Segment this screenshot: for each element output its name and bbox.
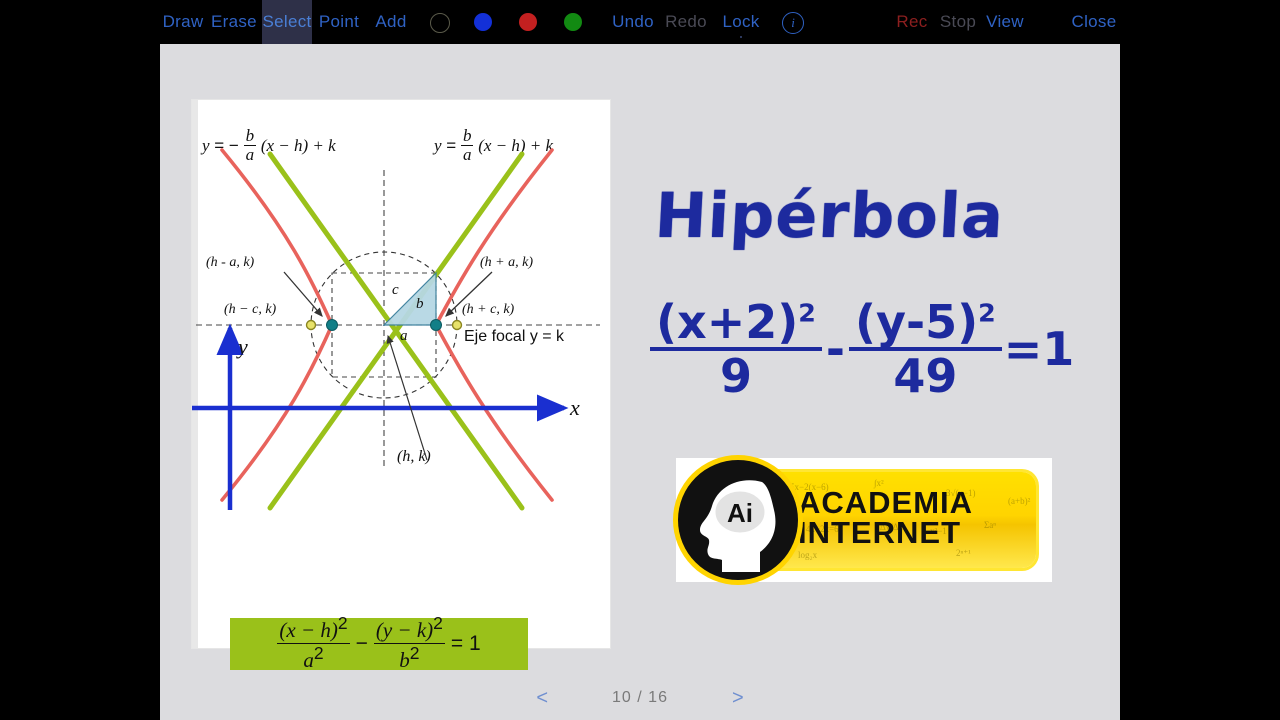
academia-internet-logo: 5x−2(x−6) ∫x² 3√(x−1) 4x+2x=6 Δy/Δx x²−1… <box>676 458 1052 582</box>
handwritten-equation: (x+2)2 9 - (y-5)2 49 =1 <box>650 299 1074 399</box>
head-profile-icon: Ai <box>678 460 798 580</box>
hw-term-1-denominator: 9 <box>650 351 822 399</box>
toolbar: Draw Erase Select Point Add Undo Redo Lo… <box>0 0 1280 44</box>
label-vertex-right: (h + a, k) <box>480 255 533 271</box>
info-icon[interactable]: i <box>782 12 804 34</box>
logo-wordmark: ACADEMIA INTERNET <box>798 488 973 548</box>
axis-label-x: x <box>570 395 580 421</box>
hyperbola-svg <box>192 140 610 610</box>
tool-select[interactable]: Select <box>262 0 312 44</box>
logo-line-2: INTERNET <box>798 518 973 548</box>
prev-page-button[interactable]: < <box>536 687 548 710</box>
label-side-b: b <box>416 296 424 313</box>
axis-label-y: y <box>238 334 248 360</box>
close-button[interactable]: Close <box>1068 0 1120 44</box>
hw-term-2-numerator: (y-5)2 <box>849 299 1002 351</box>
record-button[interactable]: Rec <box>890 0 934 44</box>
logo-badge-text: Ai <box>727 498 753 528</box>
tool-undo[interactable]: Undo <box>610 0 656 44</box>
label-focal-axis: Eje focal y = k <box>464 328 564 346</box>
logo-head-badge: Ai <box>678 460 798 580</box>
hw-term-1: (x+2)2 9 <box>650 299 822 399</box>
label-side-a: a <box>400 328 408 345</box>
label-side-c: c <box>392 282 399 299</box>
color-swatch-green-icon[interactable] <box>564 13 582 31</box>
color-swatch-blue-icon[interactable] <box>474 13 492 31</box>
formula-equals: = 1 <box>451 632 481 656</box>
hw-result: =1 <box>1004 322 1075 376</box>
lock-indicator-dot-icon <box>740 36 742 38</box>
tool-redo[interactable]: Redo <box>663 0 709 44</box>
tool-add[interactable]: Add <box>368 0 414 44</box>
color-swatch-none-icon[interactable] <box>430 13 450 33</box>
label-focus-left: (h − c, k) <box>224 302 276 318</box>
label-center: (h, k) <box>397 448 431 466</box>
formula-minus: − <box>356 632 368 656</box>
standard-equation-box: (x − h)2 a2 − (y − k)2 b2 = 1 <box>230 618 528 670</box>
handwritten-title: Hipérbola <box>653 179 1006 252</box>
stop-button[interactable]: Stop <box>936 0 980 44</box>
hw-term-1-numerator: (x+2)2 <box>650 299 822 351</box>
label-vertex-left: (h - a, k) <box>206 255 254 271</box>
page-indicator: 10 / 16 <box>612 689 668 707</box>
next-page-button[interactable]: > <box>732 687 744 710</box>
logo-line-1: ACADEMIA <box>798 488 973 518</box>
tool-point[interactable]: Point <box>316 0 362 44</box>
hw-term-2-denominator: 49 <box>849 351 1002 399</box>
hw-operator: - <box>826 322 845 376</box>
label-focus-right: (h + c, k) <box>462 302 514 318</box>
standard-equation: (x − h)2 a2 − (y − k)2 b2 = 1 <box>277 615 480 672</box>
hyperbola-diagram: y = − b a (x − h) + k y = b a (x − h) + … <box>192 100 610 648</box>
tool-draw[interactable]: Draw <box>160 0 206 44</box>
slide-canvas[interactable]: y = − b a (x − h) + k y = b a (x − h) + … <box>160 44 1120 720</box>
color-swatch-red-icon[interactable] <box>519 13 537 31</box>
tool-erase[interactable]: Erase <box>210 0 258 44</box>
view-button[interactable]: View <box>982 0 1028 44</box>
app-window: Draw Erase Select Point Add Undo Redo Lo… <box>0 0 1280 720</box>
hw-term-2: (y-5)2 49 <box>849 299 1002 399</box>
page-navigation: < 10 / 16 > <box>160 684 1120 712</box>
